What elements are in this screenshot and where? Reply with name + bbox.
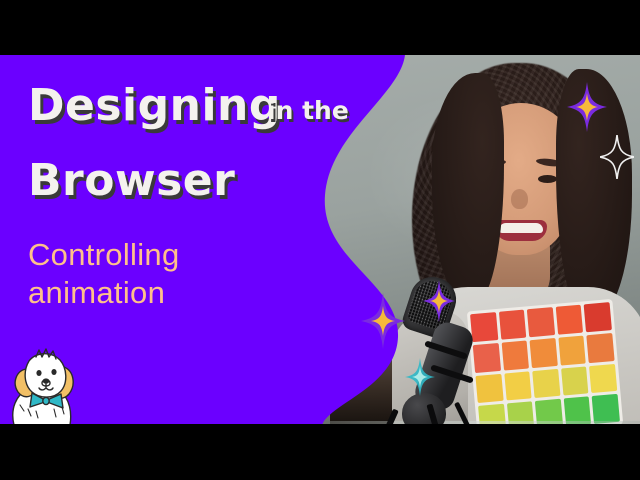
- sparkle-teal-icon: [405, 358, 435, 396]
- letterbox-bar-bottom: [0, 424, 640, 480]
- sparkle-icon: [361, 293, 405, 349]
- sparkle-icon: [567, 82, 607, 132]
- sparkle-outline-icon: [600, 135, 634, 179]
- video-thumbnail: Designing in the Browser Controlling ani…: [0, 0, 640, 480]
- dog-mascot-illustration: [6, 347, 82, 425]
- sparkle-icon: [423, 280, 455, 322]
- purple-background-panel: [0, 55, 640, 425]
- letterbox-bar-top: [0, 0, 640, 55]
- thumbnail-content-band: Designing in the Browser Controlling ani…: [0, 55, 640, 425]
